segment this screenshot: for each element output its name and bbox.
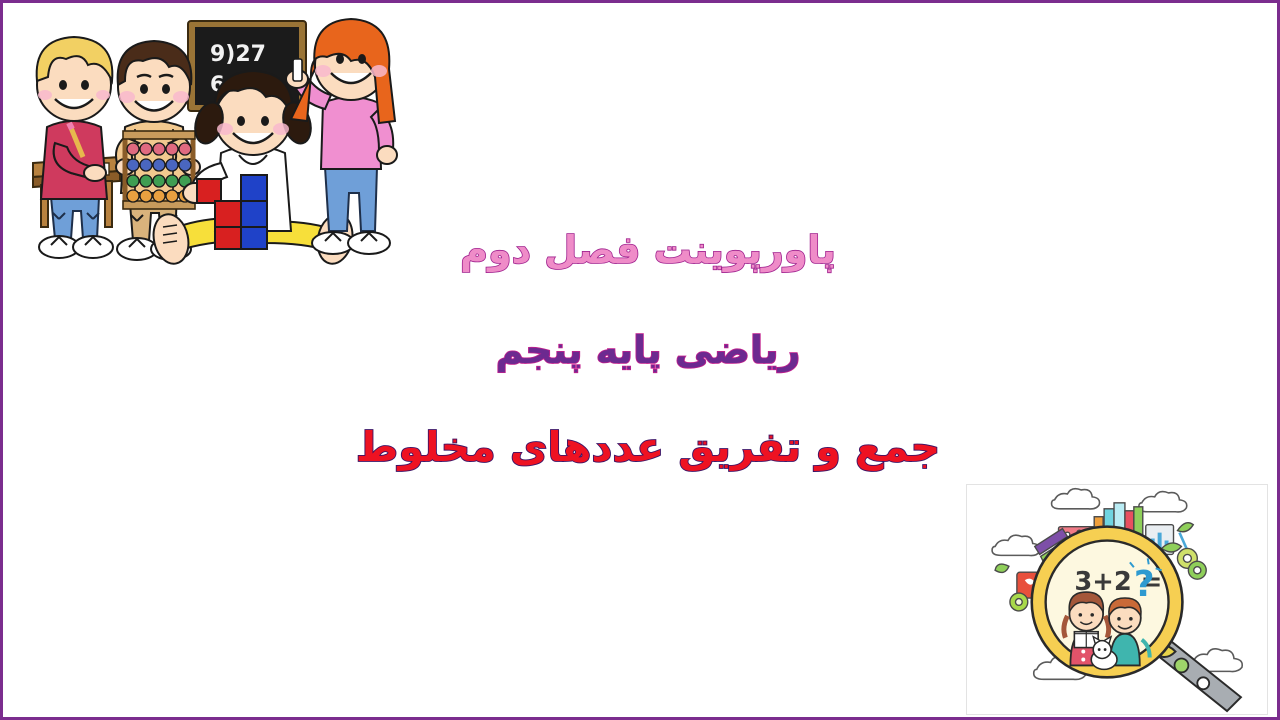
abacus-bead-row-4 [127, 190, 191, 202]
slide-title-block: پاورپوینت فصل دوم ریاضی پایه پنجم جمع و … [333, 231, 963, 468]
magnifying-glass-math-illustration: 3+2 = ? [966, 484, 1268, 715]
abacus-bead-row-3 [127, 175, 191, 187]
title-line-chapter: پاورپوینت فصل دوم [333, 231, 963, 269]
lens-question-mark: ? [1134, 564, 1155, 605]
presentation-slide: 9)27 6×8= [0, 0, 1280, 720]
title-line-subject-grade: ریاضی پایه پنجم [333, 331, 963, 369]
abacus-bead-row-2 [127, 159, 191, 171]
abacus-bead-row-1 [127, 143, 191, 155]
title-line-topic: جمع و تفریق عددهای مخلوط [333, 427, 963, 468]
blackboard-line-1: 9)27 [210, 42, 266, 67]
